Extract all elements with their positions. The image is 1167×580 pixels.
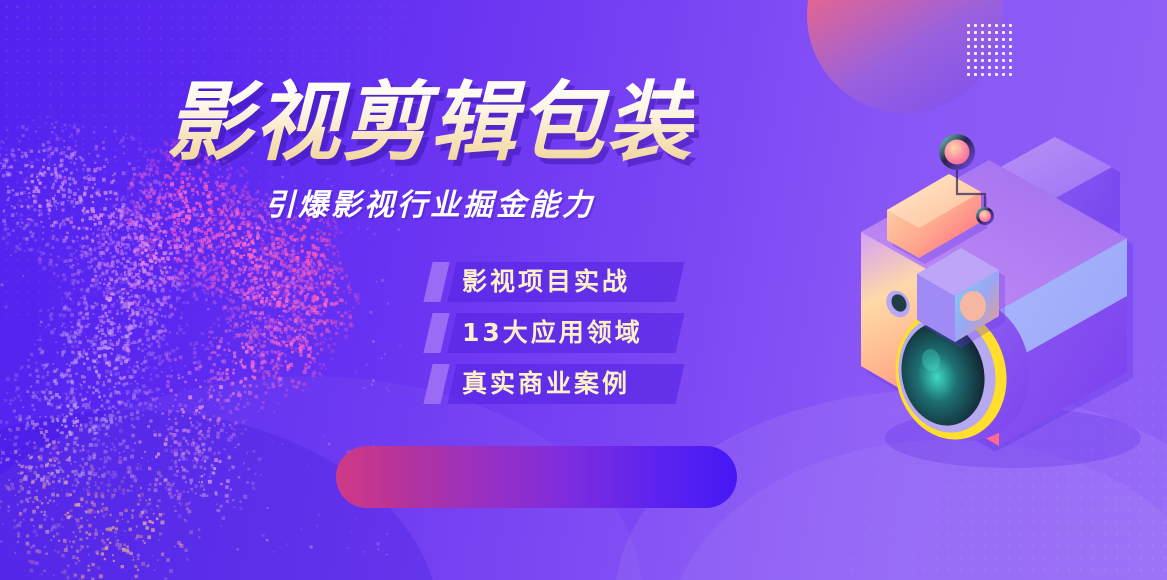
page-subtitle: 引爆影视行业掘金能力: [0, 180, 860, 224]
feature-tag-list: 影视项目实战 13大应用领域 真实商业案例: [428, 262, 728, 415]
promo-banner: 影视剪辑包装 引爆影视行业掘金能力 影视项目实战 13大应用领域 真实商业案例: [0, 0, 1167, 580]
feature-tag-0[interactable]: 影视项目实战: [428, 262, 728, 302]
feature-tag-1[interactable]: 13大应用领域: [428, 313, 728, 353]
tag-accent-mark-icon: [423, 262, 449, 302]
feature-tag-2[interactable]: 真实商业案例: [428, 364, 728, 404]
feature-tag-label: 13大应用领域: [462, 313, 643, 353]
page-title: 影视剪辑包装: [166, 78, 694, 168]
tag-accent-mark-icon: [423, 313, 449, 353]
cta-button[interactable]: [336, 446, 737, 508]
feature-tag-label: 真实商业案例: [462, 364, 630, 404]
dot-matrix-pattern: [965, 22, 1013, 80]
isometric-camera-illustration: [845, 120, 1165, 470]
tag-accent-mark-icon: [423, 364, 449, 404]
feature-tag-label: 影视项目实战: [462, 262, 630, 302]
title-block: 影视剪辑包装 引爆影视行业掘金能力: [0, 78, 860, 224]
